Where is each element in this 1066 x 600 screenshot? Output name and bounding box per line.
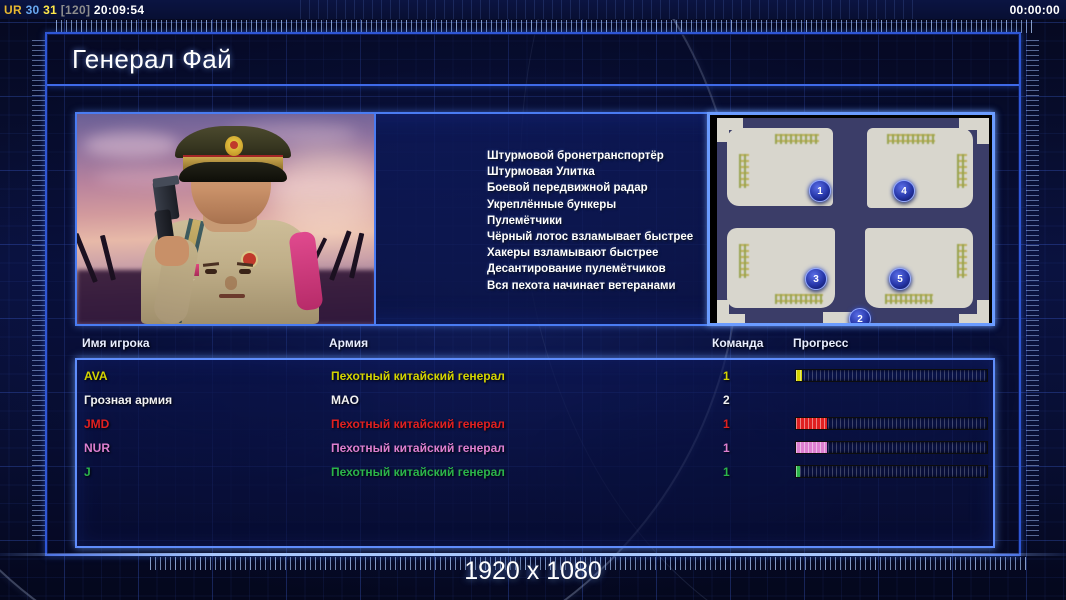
map-corner-path	[717, 118, 729, 142]
ability-item: Вся пехота начинает ветеранами	[487, 278, 693, 294]
progress-bar-fill	[796, 466, 800, 477]
map-foliage	[739, 154, 749, 188]
ability-item: Боевой передвижной радар	[487, 180, 693, 196]
top-status-bar: UR 30 31 [120] 20:09:54 00:00:00	[0, 0, 1066, 19]
map-foliage	[957, 244, 967, 278]
ability-item: Чёрный лотос взламывает быстрее	[487, 229, 693, 245]
topbar-value-a: 30	[26, 3, 40, 17]
topbar-ur-label: UR	[4, 3, 22, 17]
player-name: Грозная армия	[84, 393, 172, 407]
player-team: 1	[723, 441, 730, 455]
player-name: AVA	[84, 369, 108, 383]
ability-list: Штурмовой бронетранспортёрШтурмовая Улит…	[487, 148, 693, 294]
progress-bar-fill	[796, 442, 827, 453]
map-foliage	[887, 134, 935, 144]
portrait-eye-left	[205, 269, 217, 274]
portrait-figure	[135, 156, 325, 324]
general-abilities: Штурмовой бронетранспортёрШтурмовая Улит…	[376, 114, 993, 324]
topbar-value-b: 31	[43, 3, 57, 17]
topbar-stats: UR 30 31 [120] 20:09:54	[0, 3, 144, 17]
progress-bar	[795, 369, 988, 382]
map-foliage	[957, 154, 967, 188]
topbar-ruler	[300, 0, 916, 19]
topbar-time: 20:09:54	[94, 3, 144, 17]
player-name: NUR	[84, 441, 110, 455]
resolution-label: 1920 x 1080	[464, 557, 602, 586]
table-row[interactable]: NURПехотный китайский генерал1	[77, 436, 993, 460]
table-row[interactable]: JПехотный китайский генерал1	[77, 460, 993, 484]
player-army: MAO	[331, 393, 359, 407]
player-name: J	[84, 465, 91, 479]
portrait-pistol-sight	[153, 175, 180, 188]
window-titlebar: Генерал Фай	[47, 34, 1019, 86]
general-portrait	[77, 114, 376, 324]
map-start-position-5[interactable]: 5	[889, 268, 911, 290]
column-header-progress: Прогресс	[793, 336, 848, 350]
player-name: JMD	[84, 417, 109, 431]
portrait-arm	[137, 214, 203, 324]
map-preview: 14352	[707, 112, 995, 326]
player-army: Пехотный китайский генерал	[331, 441, 505, 455]
progress-bar-fill	[796, 418, 827, 429]
ability-item: Укреплённые бункеры	[487, 197, 693, 213]
map-corner-path	[977, 118, 989, 144]
ability-item: Штурмовая Улитка	[487, 164, 693, 180]
general-info-window: Генерал Фай	[45, 32, 1021, 556]
column-header-army: Армия	[329, 336, 368, 350]
player-army: Пехотный китайский генерал	[331, 417, 505, 431]
table-row[interactable]: Грозная армияMAO2	[77, 388, 993, 412]
progress-bar	[795, 465, 988, 478]
ruler-right	[1026, 40, 1039, 540]
player-team: 1	[723, 465, 730, 479]
portrait-cap-badge	[225, 136, 243, 156]
table-row[interactable]: JMDПехотный китайский генерал1	[77, 412, 993, 436]
map-foliage	[885, 294, 933, 304]
map-foliage	[739, 244, 749, 278]
page-title: Генерал Фай	[72, 44, 232, 75]
map-foliage	[775, 134, 819, 144]
resolution-bar: 1920 x 1080	[0, 554, 1066, 588]
player-army: Пехотный китайский генерал	[331, 465, 505, 479]
table-row[interactable]: AVAПехотный китайский генерал1	[77, 364, 993, 388]
player-table: AVAПехотный китайский генерал1Грозная ар…	[75, 358, 995, 548]
portrait-hand	[155, 236, 189, 266]
progress-bar	[795, 417, 988, 430]
progress-bar-fill	[796, 370, 802, 381]
portrait-eye-right	[239, 269, 251, 274]
map-foliage	[775, 294, 823, 304]
player-team: 1	[723, 417, 730, 431]
topbar-clock: 00:00:00	[1010, 3, 1060, 17]
player-table-header: Имя игрока Армия Команда Прогресс	[75, 336, 995, 358]
ability-item: Штурмовой бронетранспортёр	[487, 148, 693, 164]
column-header-player-name: Имя игрока	[82, 336, 150, 350]
portrait-mouth	[219, 294, 245, 298]
portrait-cloud	[83, 132, 179, 158]
player-team: 1	[723, 369, 730, 383]
map-start-position-4[interactable]: 4	[893, 180, 915, 202]
map-corner-path	[717, 300, 729, 326]
general-info-panel: Штурмовой бронетранспортёрШтурмовая Улит…	[75, 112, 995, 326]
map-terrain: 14352	[717, 118, 989, 326]
progress-bar	[795, 441, 988, 454]
ruler-left	[32, 40, 45, 540]
map-start-position-3[interactable]: 3	[805, 268, 827, 290]
player-army: Пехотный китайский генерал	[331, 369, 505, 383]
map-corner-path	[977, 300, 989, 326]
ability-item: Десантирование пулемётчиков	[487, 261, 693, 277]
ability-item: Пулемётчики	[487, 213, 693, 229]
portrait-nose	[225, 276, 237, 290]
column-header-team: Команда	[712, 336, 763, 350]
map-start-position-1[interactable]: 1	[809, 180, 831, 202]
topbar-value-c: [120]	[61, 3, 91, 17]
ability-item: Хакеры взламывают быстрее	[487, 245, 693, 261]
player-team: 2	[723, 393, 730, 407]
portrait-cap-visor	[179, 162, 287, 182]
map-start-position-2[interactable]: 2	[849, 308, 871, 326]
